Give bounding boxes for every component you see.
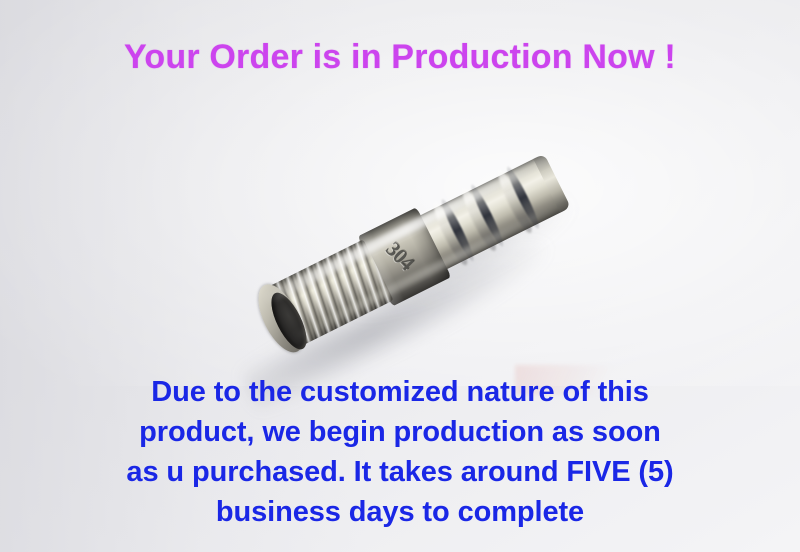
hose-barb-fitting-image: 304 xyxy=(215,140,605,370)
production-notice-text: Due to the customized nature of this pro… xyxy=(0,372,800,532)
product-photo: 304 xyxy=(215,140,605,370)
notice-line-2: product, we begin production as soon xyxy=(0,412,800,452)
notice-banner: Your Order is in Production Now ! 304 xyxy=(0,0,800,552)
page-title: Your Order is in Production Now ! xyxy=(0,38,800,77)
notice-line-3: as u purchased. It takes around FIVE (5) xyxy=(0,452,800,492)
notice-line-1: Due to the customized nature of this xyxy=(0,372,800,412)
notice-line-4: business days to complete xyxy=(0,492,800,532)
